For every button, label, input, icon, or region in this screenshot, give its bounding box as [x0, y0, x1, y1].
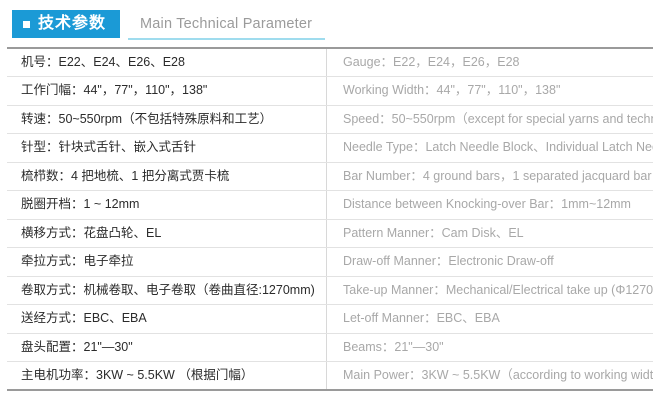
- spec-table-wrapper: 机号：E22、E24、E26、E28 Gauge：E22，E24，E26，E28…: [7, 47, 653, 391]
- page-title: 技术参数: [38, 16, 106, 32]
- spec-label-en: Gauge：E22，E24，E26，E28: [327, 48, 654, 77]
- table-row: 脱圈开档：1 ~ 12mm Distance between Knocking-…: [7, 191, 653, 220]
- spec-label-cn: 主电机功率：3KW ~ 5.5KW （根据门幅）: [7, 362, 327, 391]
- table-row: 主电机功率：3KW ~ 5.5KW （根据门幅） Main Power：3KW …: [7, 362, 653, 391]
- table-row: 卷取方式：机械卷取、电子卷取（卷曲直径:1270mm) Take-up Mann…: [7, 276, 653, 305]
- table-row: 横移方式：花盘凸轮、EL Pattern Manner：Cam Disk、EL: [7, 219, 653, 248]
- table-row: 针型：针块式舌针、嵌入式舌针 Needle Type：Latch Needle …: [7, 134, 653, 163]
- spec-label-en: Bar Number：4 ground bars，1 separated jac…: [327, 162, 654, 191]
- table-row: 送经方式：EBC、EBA Let-off Manner：EBC、EBA: [7, 305, 653, 334]
- spec-label-en: Distance between Knocking-over Bar：1mm~1…: [327, 191, 654, 220]
- page-subtitle: Main Technical Parameter: [120, 10, 312, 38]
- section-title-badge: 技术参数: [12, 10, 120, 38]
- spec-label-cn: 针型：针块式舌针、嵌入式舌针: [7, 134, 327, 163]
- spec-label-cn: 工作门幅：44"，77"，110"，138": [7, 77, 327, 106]
- spec-label-cn: 梳栉数：4 把地梳、1 把分离式贾卡梳: [7, 162, 327, 191]
- spec-label-en: Beams：21"—30": [327, 333, 654, 362]
- table-row: 牵拉方式：电子牵拉 Draw-off Manner：Electronic Dra…: [7, 248, 653, 277]
- spec-label-cn: 转速：50~550rpm（不包括特殊原料和工艺）: [7, 105, 327, 134]
- table-row: 盘头配置：21"—30" Beams：21"—30": [7, 333, 653, 362]
- spec-label-cn: 卷取方式：机械卷取、电子卷取（卷曲直径:1270mm): [7, 276, 327, 305]
- spec-label-cn: 盘头配置：21"—30": [7, 333, 327, 362]
- spec-label-cn: 横移方式：花盘凸轮、EL: [7, 219, 327, 248]
- spec-label-en: Speed：50~550rpm（except for special yarns…: [327, 105, 654, 134]
- section-header: 技术参数 Main Technical Parameter: [0, 0, 660, 46]
- spec-label-cn: 牵拉方式：电子牵拉: [7, 248, 327, 277]
- spec-table-body: 机号：E22、E24、E26、E28 Gauge：E22，E24，E26，E28…: [7, 48, 653, 390]
- spec-label-en: Needle Type：Latch Needle Block、Individua…: [327, 134, 654, 163]
- specification-table: 机号：E22、E24、E26、E28 Gauge：E22，E24，E26，E28…: [7, 47, 653, 391]
- spec-label-cn: 脱圈开档：1 ~ 12mm: [7, 191, 327, 220]
- spec-label-cn: 送经方式：EBC、EBA: [7, 305, 327, 334]
- header-underline: [128, 38, 325, 40]
- spec-label-cn: 机号：E22、E24、E26、E28: [7, 48, 327, 77]
- table-row: 机号：E22、E24、E26、E28 Gauge：E22，E24，E26，E28: [7, 48, 653, 77]
- spec-label-en: Take-up Manner：Mechanical/Electrical tak…: [327, 276, 654, 305]
- spec-label-en: Main Power：3KW ~ 5.5KW（according to work…: [327, 362, 654, 391]
- square-bullet-icon: [23, 21, 30, 28]
- spec-label-en: Pattern Manner：Cam Disk、EL: [327, 219, 654, 248]
- section-header-inner: 技术参数 Main Technical Parameter: [12, 10, 312, 38]
- spec-label-en: Draw-off Manner：Electronic Draw-off: [327, 248, 654, 277]
- spec-label-en: Working Width：44"，77"，110"，138": [327, 77, 654, 106]
- spec-label-en: Let-off Manner：EBC、EBA: [327, 305, 654, 334]
- table-row: 转速：50~550rpm（不包括特殊原料和工艺） Speed：50~550rpm…: [7, 105, 653, 134]
- table-row: 梳栉数：4 把地梳、1 把分离式贾卡梳 Bar Number：4 ground …: [7, 162, 653, 191]
- table-row: 工作门幅：44"，77"，110"，138" Working Width：44"…: [7, 77, 653, 106]
